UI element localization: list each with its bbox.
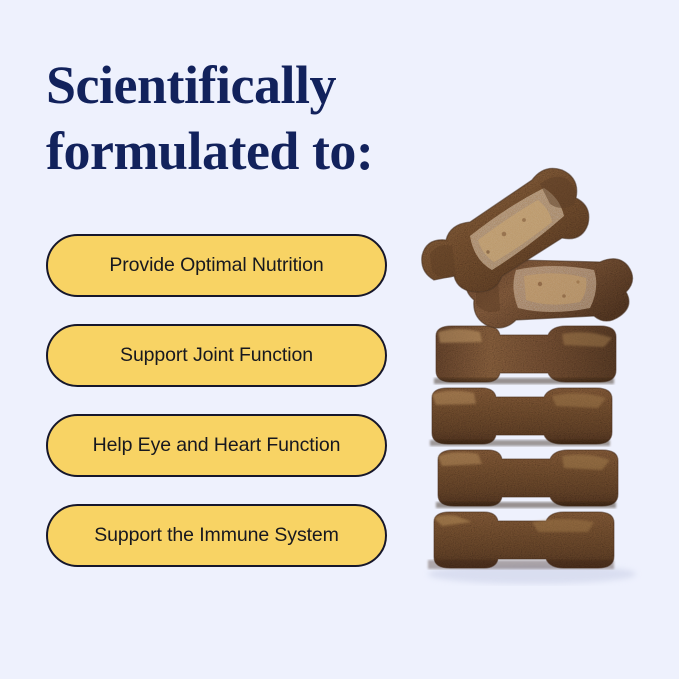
benefit-pill-list: Provide Optimal Nutrition Support Joint … xyxy=(46,234,387,567)
benefit-pill-label: Provide Optimal Nutrition xyxy=(109,254,323,277)
stack-slab-3 xyxy=(436,450,618,508)
benefit-pill-label: Support the Immune System xyxy=(94,524,339,547)
promo-graphic: Scientifically formulated to: Provide Op… xyxy=(0,0,679,679)
page-title: Scientifically formulated to: xyxy=(46,52,446,184)
benefit-pill-label: Help Eye and Heart Function xyxy=(93,434,341,457)
benefit-pill-help-eye-and-heart-function: Help Eye and Heart Function xyxy=(46,414,387,477)
stack-slab-1 xyxy=(434,326,616,384)
benefit-pill-label: Support Joint Function xyxy=(120,344,313,367)
stack-slab-2 xyxy=(430,388,612,446)
benefit-pill-provide-optimal-nutrition: Provide Optimal Nutrition xyxy=(46,234,387,297)
benefit-pill-support-joint-function: Support Joint Function xyxy=(46,324,387,387)
benefit-pill-support-the-immune-system: Support the Immune System xyxy=(46,504,387,567)
product-photo-dog-treat-stack xyxy=(412,150,679,590)
dog-treat-stack-illustration xyxy=(412,150,679,590)
stack-slab-4 xyxy=(428,512,614,569)
